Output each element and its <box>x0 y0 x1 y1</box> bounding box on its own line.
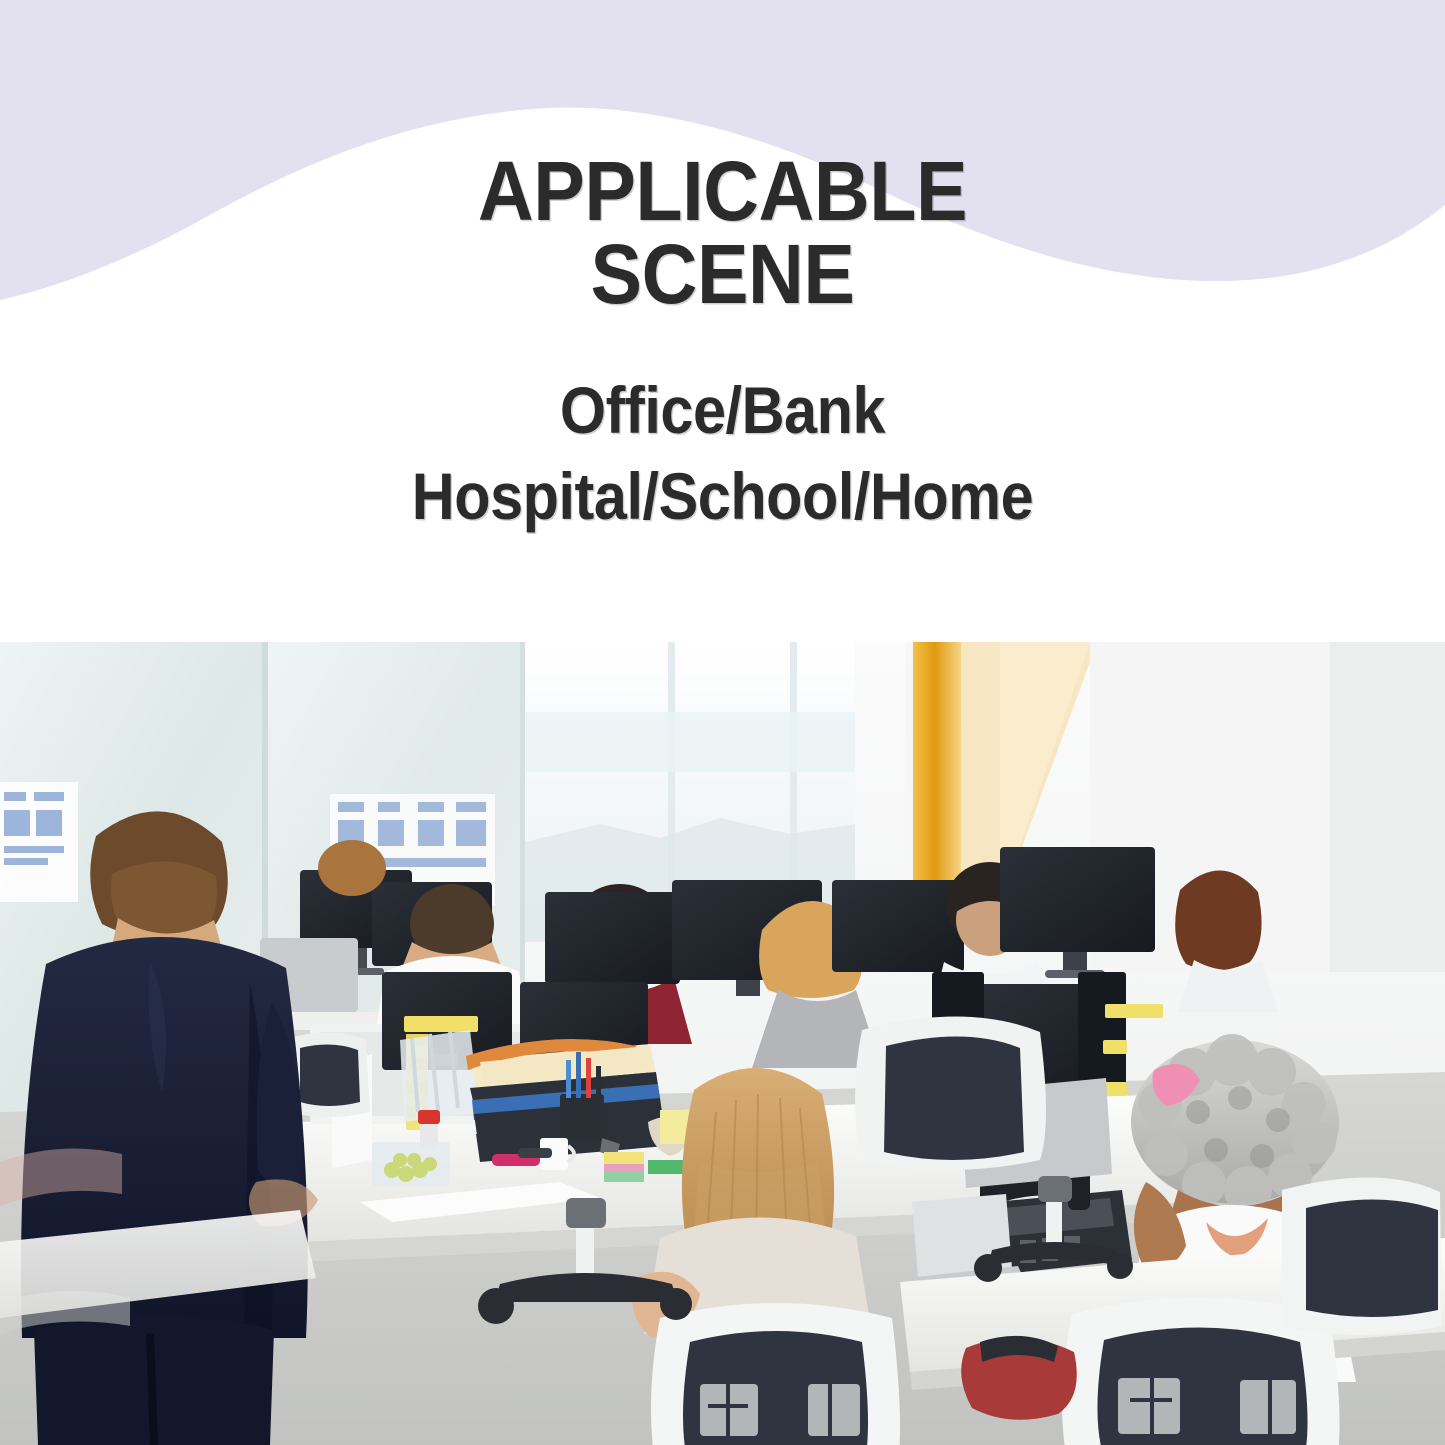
page-subtitle-line-2: Hospital/School/Home <box>72 454 1373 540</box>
office-scene-photo <box>0 642 1445 1445</box>
page-subtitle-line-1: Office/Bank <box>72 368 1373 454</box>
office-scene-illustration <box>0 642 1445 1445</box>
page-subtitle: Office/Bank Hospital/School/Home <box>0 368 1445 540</box>
office-chair-right-back <box>1282 1177 1442 1335</box>
applicable-scene-page: APPLICABLE SCENE Office/Bank Hospital/Sc… <box>0 0 1445 1445</box>
office-chair-mid <box>855 1016 1046 1170</box>
page-title-line-1: APPLICABLE <box>58 150 1387 233</box>
header-banner: APPLICABLE SCENE Office/Bank Hospital/Sc… <box>0 0 1445 642</box>
page-title-line-2: SCENE <box>58 233 1387 316</box>
page-title: APPLICABLE SCENE <box>0 150 1445 316</box>
office-chair-center <box>651 1303 900 1445</box>
worker-back-blond-head <box>318 840 386 896</box>
